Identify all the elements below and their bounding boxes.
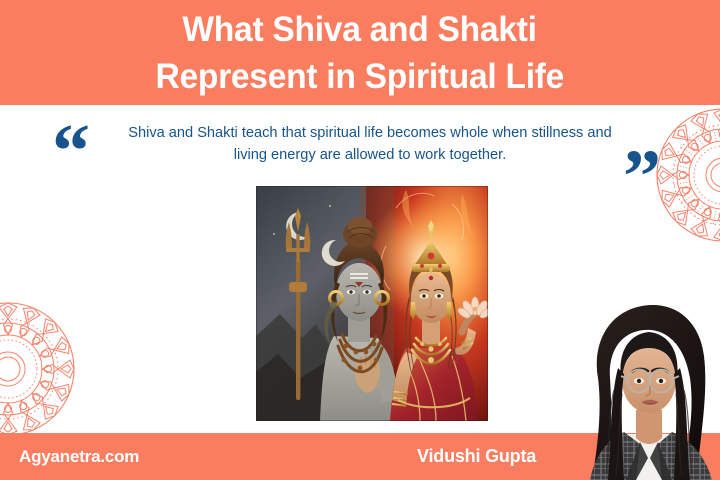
mandala-top-right-icon	[651, 104, 720, 246]
site-name[interactable]: Agyanetra.com	[19, 447, 139, 467]
shiva-shakti-artwork	[256, 186, 488, 421]
header-band: What Shiva and Shakti Represent in Spiri…	[0, 0, 720, 105]
quote-line-1: Shiva and Shakti teach that spiritual li…	[128, 125, 527, 141]
author-portrait	[578, 298, 720, 480]
quote-close-mark: ”	[623, 139, 659, 215]
page-title-line-2: Represent in Spiritual Life	[156, 53, 565, 100]
shiva-shakti-illustration	[256, 186, 488, 421]
quote-open-mark: “	[52, 113, 88, 189]
social-card: What Shiva and Shakti Represent in Spiri…	[0, 0, 720, 480]
mandala-bottom-left-icon	[0, 298, 80, 440]
page-title-line-1: What Shiva and Shakti	[183, 6, 537, 53]
quote-text: Shiva and Shakti teach that spiritual li…	[118, 122, 622, 166]
author-name: Vidushi Gupta	[417, 446, 536, 467]
author-portrait-photo	[578, 298, 720, 480]
